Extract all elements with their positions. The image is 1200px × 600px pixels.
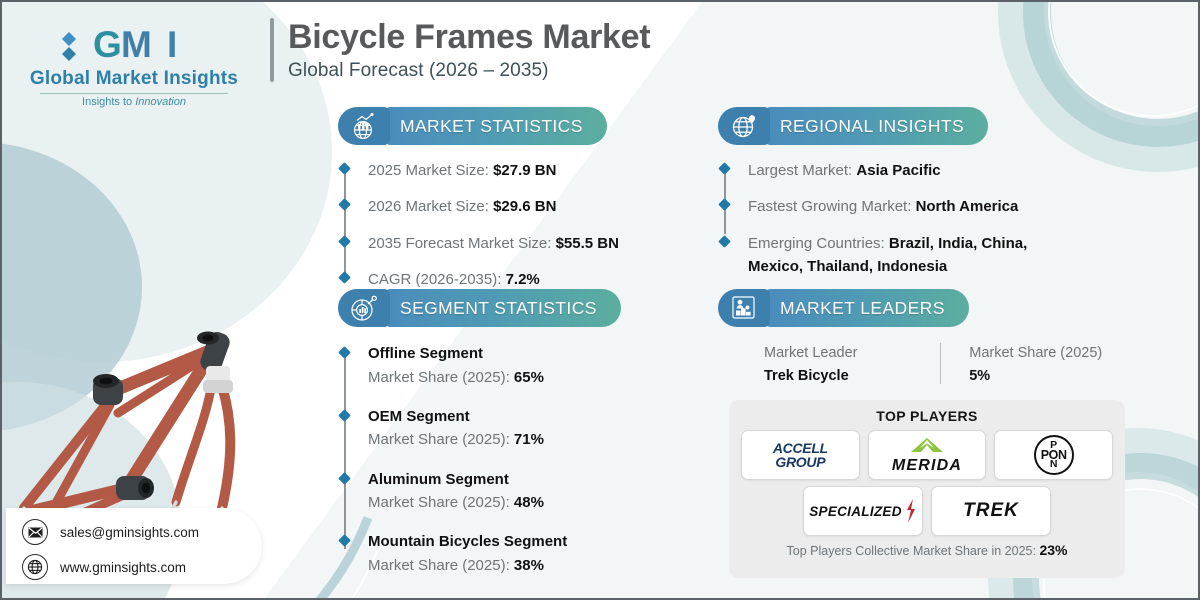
- market-share-column: Market Share (2025) 5%: [940, 343, 1118, 384]
- envelope-icon: [22, 519, 48, 545]
- accell-line1: ACCELL: [773, 441, 828, 455]
- market-share-value: 5%: [969, 368, 1118, 384]
- logo-divider: [40, 93, 228, 94]
- bullet-dot-icon: [338, 162, 351, 175]
- gmi-logomark: G M I: [14, 26, 254, 66]
- list-item: CAGR (2026-2035): 7.2%: [368, 268, 638, 291]
- player-logo-accell[interactable]: ACCELL GROUP: [741, 430, 860, 480]
- market-leaders-header: MARKET LEADERS: [718, 289, 1118, 327]
- segment-name: Aluminum Segment: [368, 469, 638, 492]
- list-item: OEM Segment Market Share (2025): 71%: [368, 406, 638, 452]
- contact-panel: sales@gminsights.com www.gminsights.com: [6, 508, 262, 584]
- stat-label: 2025 Market Size:: [368, 162, 493, 179]
- market-leader-value: Trek Bicycle: [764, 368, 940, 384]
- decorative-arc-topright-line: [1048, 0, 1200, 117]
- market-statistics-header: MARKET STATISTICS: [338, 107, 638, 145]
- specialized-wordmark: SPECIALIZED: [809, 504, 902, 519]
- list-connector-line: [344, 167, 346, 281]
- donut-chart-icon: [338, 289, 390, 327]
- region-label: Emerging Countries:: [748, 235, 889, 252]
- top-players-footer: Top Players Collective Market Share in 2…: [741, 542, 1113, 558]
- bullet-dot-icon: [338, 472, 351, 485]
- segment-name: Offline Segment: [368, 343, 638, 366]
- segment-statistics-list: Offline Segment Market Share (2025): 65%…: [338, 343, 638, 577]
- region-label: Largest Market:: [748, 162, 856, 179]
- merida-mountain-icon: [903, 437, 951, 453]
- player-logo-pon-bike[interactable]: P PON N .BIKE: [994, 430, 1113, 480]
- top-players-panel: TOP PLAYERS ACCELL GROUP MERIDA: [729, 400, 1125, 578]
- logo-company-name: Global Market Insights: [14, 68, 254, 90]
- stat-label: CAGR (2026-2035):: [368, 271, 506, 288]
- top-players-row-2: SPECIALIZED TREK: [741, 486, 1113, 536]
- region-label: Fastest Growing Market:: [748, 198, 916, 215]
- page-subtitle: Global Forecast (2026 – 2035): [288, 60, 650, 82]
- merida-wordmark: MERIDA: [892, 458, 962, 474]
- segment-name: OEM Segment: [368, 406, 638, 429]
- infographic-canvas: G M I Global Market Insights Insights to…: [0, 0, 1200, 600]
- segment-label: Market Share (2025):: [368, 369, 514, 386]
- svg-text:G: G: [93, 26, 122, 65]
- trek-wordmark: TREK: [963, 500, 1019, 522]
- regional-insights-header: REGIONAL INSIGHTS: [718, 107, 1068, 145]
- list-item: Aluminum Segment Market Share (2025): 48…: [368, 469, 638, 515]
- market-leader-label: Market Leader: [764, 343, 940, 365]
- globe-chart-icon: [338, 107, 390, 145]
- bullet-dot-icon: [338, 346, 351, 359]
- logo-tagline-italic: Innovation: [135, 96, 186, 108]
- bullet-dot-icon: [718, 198, 731, 211]
- bullet-dot-icon: [338, 409, 351, 422]
- market-statistics-title: MARKET STATISTICS: [386, 107, 607, 145]
- page-title: Bicycle Frames Market: [288, 18, 650, 57]
- segment-value: 71%: [514, 431, 544, 448]
- podium-leader-icon: [718, 289, 770, 327]
- pon-circle-icon: P PON N: [1034, 435, 1074, 475]
- region-value: North America: [916, 198, 1019, 215]
- section-market-leaders: MARKET LEADERS Market Leader Trek Bicycl…: [718, 289, 1118, 384]
- contact-website-row[interactable]: www.gminsights.com: [22, 554, 262, 580]
- player-logo-merida[interactable]: MERIDA: [868, 430, 987, 480]
- list-item: Offline Segment Market Share (2025): 65%: [368, 343, 638, 389]
- segment-label: Market Share (2025):: [368, 431, 514, 448]
- top-players-footer-label: Top Players Collective Market Share in 2…: [787, 544, 1040, 558]
- bicycle-frame-illustration: [10, 250, 320, 550]
- section-market-statistics: MARKET STATISTICS 2025 Market Size: $27.…: [338, 107, 638, 291]
- segment-label: Market Share (2025):: [368, 557, 514, 574]
- top-players-title: TOP PLAYERS: [741, 408, 1113, 424]
- top-players-row-1: ACCELL GROUP MERIDA P PON: [741, 430, 1113, 480]
- page-title-block: Bicycle Frames Market Global Forecast (2…: [270, 18, 650, 82]
- title-accent-bar: [270, 18, 274, 82]
- segment-statistics-title: SEGMENT STATISTICS: [386, 289, 621, 327]
- market-statistics-list: 2025 Market Size: $27.9 BN 2026 Market S…: [338, 159, 638, 291]
- stat-label: 2026 Market Size:: [368, 198, 493, 215]
- stat-value: 7.2%: [506, 271, 540, 288]
- specialized-s-icon: [905, 498, 917, 524]
- bullet-dot-icon: [338, 271, 351, 284]
- bullet-dot-icon: [338, 235, 351, 248]
- regional-insights-title: REGIONAL INSIGHTS: [766, 107, 988, 145]
- list-item: 2025 Market Size: $27.9 BN: [368, 159, 638, 182]
- list-connector-line: [344, 351, 346, 549]
- list-item: 2026 Market Size: $29.6 BN: [368, 195, 638, 218]
- list-item: Largest Market: Asia Pacific: [748, 159, 1068, 182]
- stat-value: $29.6 BN: [493, 198, 556, 215]
- stat-value: $55.5 BN: [556, 235, 619, 252]
- market-share-label: Market Share (2025): [969, 343, 1118, 365]
- section-regional-insights: REGIONAL INSIGHTS Largest Market: Asia P…: [718, 107, 1068, 278]
- segment-value: 38%: [514, 557, 544, 574]
- segment-name: Mountain Bicycles Segment: [368, 531, 638, 554]
- bullet-dot-icon: [338, 534, 351, 547]
- contact-email[interactable]: sales@gminsights.com: [60, 525, 199, 540]
- list-item: 2035 Forecast Market Size: $55.5 BN: [368, 232, 638, 255]
- pon-bottom: N: [1050, 460, 1058, 469]
- player-logo-trek[interactable]: TREK: [931, 486, 1051, 536]
- market-leaders-summary: Market Leader Trek Bicycle Market Share …: [764, 343, 1118, 384]
- segment-label: Market Share (2025):: [368, 494, 514, 511]
- segment-value: 65%: [514, 369, 544, 386]
- stat-label: 2035 Forecast Market Size:: [368, 235, 556, 252]
- logo-tagline: Insights to Innovation: [14, 96, 254, 108]
- market-leaders-title: MARKET LEADERS: [766, 289, 969, 327]
- list-item: Emerging Countries: Brazil, India, China…: [748, 232, 1068, 279]
- region-value: Asia Pacific: [856, 162, 940, 179]
- contact-website[interactable]: www.gminsights.com: [60, 560, 186, 575]
- bullet-dot-icon: [338, 198, 351, 211]
- svg-text:I: I: [167, 26, 177, 65]
- bullet-dot-icon: [718, 162, 731, 175]
- svg-text:M: M: [121, 26, 152, 65]
- contact-email-row[interactable]: sales@gminsights.com: [22, 519, 262, 545]
- list-item: Mountain Bicycles Segment Market Share (…: [368, 531, 638, 577]
- globe-icon: [22, 554, 48, 580]
- segment-value: 48%: [514, 494, 544, 511]
- player-logo-specialized[interactable]: SPECIALIZED: [803, 486, 923, 536]
- accell-line2: GROUP: [773, 455, 828, 469]
- logo-tagline-prefix: Insights to: [82, 96, 135, 108]
- market-leader-column: Market Leader Trek Bicycle: [764, 343, 940, 384]
- gmi-diamond-icon: [57, 28, 91, 64]
- list-item: Fastest Growing Market: North America: [748, 195, 1068, 218]
- gmi-letters-icon: G M I: [93, 26, 211, 66]
- bullet-dot-icon: [718, 235, 731, 248]
- section-segment-statistics: SEGMENT STATISTICS Offline Segment Marke…: [338, 289, 638, 577]
- segment-statistics-header: SEGMENT STATISTICS: [338, 289, 638, 327]
- top-players-footer-value: 23%: [1039, 542, 1067, 558]
- regional-insights-list: Largest Market: Asia Pacific Fastest Gro…: [718, 159, 1068, 278]
- globe-pin-icon: [718, 107, 770, 145]
- company-logo: G M I Global Market Insights Insights to…: [14, 26, 254, 108]
- stat-value: $27.9 BN: [493, 162, 556, 179]
